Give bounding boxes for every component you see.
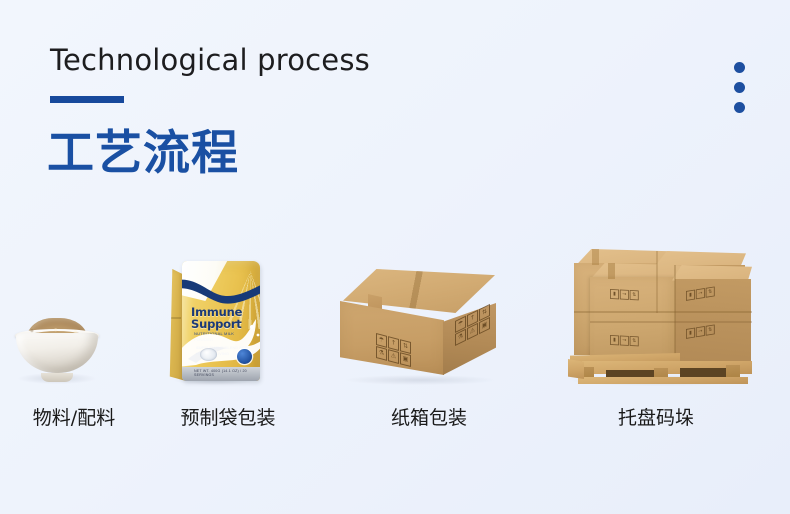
pouch-front-panel: Immune Support NUTRITIONAL MILK POWDER S… <box>182 261 260 381</box>
glass-fragile-icon: ▮ <box>610 335 619 345</box>
pouch-bottom-strip: NET WT. 400G (14.1 OZ) / 20 SERVINGS <box>182 367 260 381</box>
dot-icon <box>734 82 745 93</box>
arrow-right-icon: → <box>696 288 705 299</box>
pouch-foil-seal <box>200 348 217 361</box>
step-caption-raw-material: 物料/配料 <box>14 403 134 430</box>
pallet-box-vertical-seam <box>674 265 676 365</box>
page-title-chinese: 工艺流程 <box>47 114 239 183</box>
arrow-right-icon: → <box>620 336 629 346</box>
glass-fragile-icon: ▮ <box>686 290 695 301</box>
pallet-symbols-lower-left: ▮ → ⇅ <box>610 335 639 346</box>
step-image-pouch-packaging: Immune Support NUTRITIONAL MILK POWDER S… <box>168 253 262 385</box>
decorative-dots <box>734 62 745 113</box>
title-underline-rule <box>50 96 124 103</box>
bowl-body <box>16 333 98 373</box>
pallet-box-vertical-seam-back <box>656 251 658 313</box>
pallet-tape-back <box>592 249 599 265</box>
pallet-box-tier-seam-front <box>590 321 752 323</box>
caution-icon: ⚠ <box>388 349 399 364</box>
arrow-right-icon: → <box>620 290 629 300</box>
this-side-up-icon: ⇅ <box>630 290 639 300</box>
glass-fragile-icon: ▮ <box>610 289 619 299</box>
process-infographic: Technological process 工艺流程 <box>0 0 790 514</box>
step-caption-carton-packaging: 纸箱包装 <box>363 403 495 430</box>
this-side-up-icon: ⇅ <box>706 324 715 335</box>
pallet-symbols-upper-left: ▮ → ⇅ <box>610 289 639 300</box>
stack-limit-icon: ▣ <box>400 352 411 367</box>
pallet-box-tier-seam <box>574 311 752 313</box>
fragile-icon: ⚗ <box>376 346 387 361</box>
this-side-up-icon: ⇅ <box>706 286 715 297</box>
dot-icon <box>734 102 745 113</box>
page-title-english: Technological process <box>50 43 370 77</box>
step-image-carton-packaging: ☂ ↑ ⇅ ⚗ ⚠ ▣ ☂ ↑ ⇅ ⚗ ⚠ ▣ <box>340 267 500 385</box>
step-image-pallet-stacking: ▮ → ⇅ ▮ → ⇅ ▮ → ⇅ ▮ → ⇅ <box>568 241 750 385</box>
pallet-bottom-board <box>578 377 748 384</box>
pouch-net-weight: NET WT. 400G (14.1 OZ) / 20 SERVINGS <box>194 369 260 377</box>
pouch-certification-badge <box>237 349 252 364</box>
bowl-foot <box>41 373 73 382</box>
carton-shadow <box>346 375 494 385</box>
this-side-up-icon: ⇅ <box>630 336 639 346</box>
process-flow-row: Immune Support NUTRITIONAL MILK POWDER S… <box>0 225 790 385</box>
pallet-tape-left <box>608 263 615 279</box>
step-image-raw-material <box>14 315 100 385</box>
dot-icon <box>734 62 745 73</box>
glass-fragile-icon: ▮ <box>686 328 695 339</box>
step-caption-pouch-packaging: 预制袋包装 <box>162 403 294 430</box>
step-caption-pallet-stacking: 托盘码垛 <box>590 403 722 430</box>
pallet-left-edge <box>568 359 584 379</box>
pouch-gusset-text <box>171 313 181 369</box>
arrow-right-icon: → <box>696 326 705 337</box>
